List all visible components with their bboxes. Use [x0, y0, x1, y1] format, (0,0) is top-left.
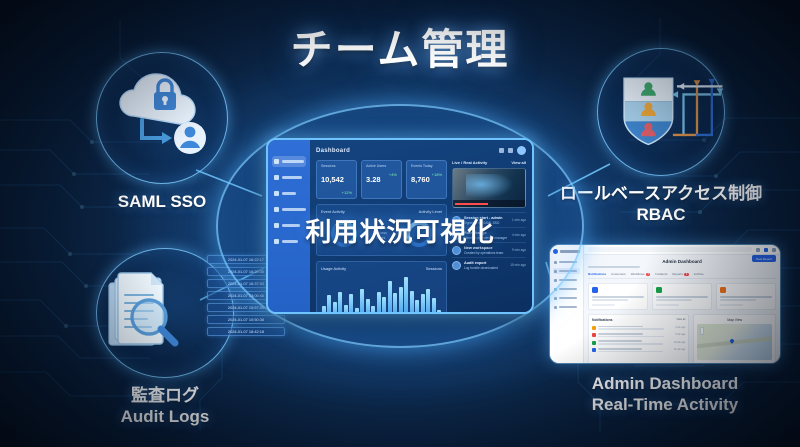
- donut-legend: Logins Access Errors: [376, 226, 387, 241]
- sso-ring: [96, 52, 228, 184]
- notification-time: 9 min ago: [675, 334, 685, 336]
- notification-time: 2 min ago: [675, 327, 685, 329]
- bell-icon[interactable]: [508, 148, 513, 153]
- usage-bar: [432, 298, 436, 314]
- device-live-feed: Live / Real Activity View all Session st…: [452, 160, 526, 314]
- usage-bar: [360, 289, 364, 314]
- stat-label: Sessions: [321, 164, 352, 169]
- feed-item-desc: Member promoted to manager: [464, 236, 509, 240]
- device-nav-users[interactable]: [272, 188, 306, 199]
- device-top-icons[interactable]: [499, 146, 526, 155]
- cloud-lock-icon: [110, 72, 214, 164]
- stat-change: +12%: [342, 190, 352, 195]
- status-icon: [592, 341, 596, 345]
- gear-icon: [274, 239, 279, 244]
- admin-notifications-panel: Notifications View all 2 min ago 9 min a…: [588, 314, 689, 363]
- notification-icon[interactable]: [764, 248, 768, 252]
- stat-value: 8,760: [411, 175, 430, 184]
- key-icon: [274, 207, 279, 212]
- video-highlight: [466, 174, 516, 201]
- donut-legend-item: Errors: [376, 236, 387, 241]
- device-donut-panel: Event Activity Activity Level Logins Acc…: [316, 204, 447, 256]
- device-nav-settings[interactable]: [272, 236, 306, 247]
- usage-bar: [355, 308, 359, 314]
- usage-bar: [410, 291, 414, 314]
- admin-notification-row[interactable]: 9 min ago: [592, 331, 685, 338]
- feed-item-name: Audit export: [464, 261, 507, 265]
- usage-bar: [322, 306, 326, 314]
- dashboard-icon: [274, 159, 279, 164]
- device-nav-audit-trail[interactable]: [272, 220, 306, 231]
- bar-panel-header: Usage Activity Sessions: [321, 266, 442, 271]
- device-topbar: Dashboard: [316, 146, 526, 155]
- feed-item[interactable]: Session start - adminSigned in via SAML …: [452, 212, 526, 227]
- document-magnifier-icon: [103, 265, 199, 361]
- stat-change: +4%: [389, 172, 397, 177]
- tab-reports[interactable]: Reports 8: [672, 272, 688, 276]
- usage-bar-chart: [321, 274, 442, 314]
- usage-bar: [426, 289, 430, 314]
- tab-workflows[interactable]: Workflows 3: [631, 272, 651, 276]
- map-pin-icon: [729, 338, 735, 344]
- usage-bar: [404, 277, 408, 314]
- list-icon: [274, 223, 279, 228]
- device-app-title: Dashboard: [316, 148, 350, 154]
- feed-item-name: Session start - admin: [464, 216, 509, 220]
- infographic-stage: チーム管理 SAML SSO: [0, 0, 800, 447]
- donut-panel-meta: Activity Level: [419, 209, 442, 214]
- usage-bar: [399, 287, 403, 314]
- feed-header: Live / Real Activity View all: [452, 160, 526, 165]
- admin-notifications-header: Notifications View all: [592, 318, 685, 322]
- admin-nav-notifications[interactable]: [553, 295, 580, 301]
- stat-value: 3.28: [366, 175, 381, 184]
- admin-caption-line1: Admin Dashboard: [592, 374, 738, 393]
- admin-tabs[interactable]: Notifications Customers Workflows 3 Inci…: [588, 272, 776, 279]
- admin-dashboard-frame: Admin Dashboard New Report Notifications…: [549, 244, 781, 364]
- status-icon: [592, 348, 596, 352]
- rbac-ring: [597, 48, 725, 176]
- center-device[interactable]: Dashboard Sessions 10,542 +12%: [266, 138, 534, 314]
- audit-ring: 2024-01-07 16:22:17 2024-01-07 16:20:35 …: [96, 248, 234, 378]
- donut-panel-title: Event Activity: [321, 209, 345, 214]
- admin-dashboard-mock: Admin Dashboard New Report Notifications…: [550, 245, 780, 363]
- device-bar-panel: Usage Activity Sessions: [316, 261, 447, 314]
- center-dashboard-node: Dashboard Sessions 10,542 +12%: [258, 128, 542, 324]
- device-nav-access-manager[interactable]: [272, 204, 306, 215]
- audit-caption-line2: Audit Logs: [60, 407, 270, 428]
- admin-heading: Admin Dashboard: [588, 259, 776, 264]
- stat-change: +18%: [432, 172, 442, 177]
- feed-item[interactable]: New workspaceCreated by operations team …: [452, 242, 526, 257]
- tab-notifications[interactable]: Notifications: [588, 272, 606, 276]
- bar-panel-title: Usage Activity: [321, 266, 346, 271]
- usage-bar: [437, 310, 441, 314]
- users-icon: [274, 191, 279, 196]
- stat-card[interactable]: Events Today 8,760 +18%: [406, 160, 447, 199]
- rbac-caption: ロールベースアクセス制御 RBAC: [556, 184, 766, 225]
- admin-notification-row[interactable]: 2 min ago: [592, 324, 685, 331]
- feed-item-desc: Created by operations team: [464, 251, 509, 255]
- admin-map-title: Map View: [697, 318, 772, 322]
- admin-primary-button[interactable]: New Report: [752, 255, 776, 262]
- device-sidebar[interactable]: [268, 140, 310, 312]
- usage-bar: [382, 297, 386, 314]
- avatar: [452, 246, 461, 255]
- device-nav-dashboard[interactable]: [272, 156, 306, 167]
- usage-bar: [388, 281, 392, 314]
- notification-time: 24 min ago: [674, 342, 685, 344]
- feed-item-time: 4 min ago: [512, 233, 526, 237]
- admin-notifications-title: Notifications: [592, 318, 613, 322]
- admin-notification-row[interactable]: 24 min ago: [592, 339, 685, 346]
- feed-item-time: 1 min ago: [512, 218, 526, 222]
- card-icon: [720, 287, 726, 293]
- status-icon: [592, 333, 596, 337]
- device-main: Dashboard Sessions 10,542 +12%: [310, 140, 532, 312]
- arrow-light-blue: [684, 94, 720, 135]
- stat-value: 10,542: [321, 175, 344, 184]
- donut-charts: Logins Access Errors: [321, 217, 442, 251]
- feed-item-name: Role change: [464, 231, 509, 235]
- avatar: [452, 231, 461, 240]
- map-canvas[interactable]: [697, 324, 772, 360]
- feed-item-name: New workspace: [464, 246, 509, 250]
- live-video-thumbnail[interactable]: [452, 168, 526, 208]
- usage-bar: [333, 302, 337, 314]
- stat-card[interactable]: Active Users 3.28 +4%: [361, 160, 402, 199]
- admin-subheading: [588, 266, 640, 268]
- usage-bar: [371, 306, 375, 314]
- feed-item-desc: Log bundle downloaded: [464, 266, 507, 270]
- usage-bar: [349, 294, 353, 314]
- admin-card[interactable]: [652, 283, 712, 310]
- admin-main: Admin Dashboard New Report Notifications…: [584, 245, 780, 363]
- feed-title: Live / Real Activity: [452, 160, 487, 165]
- notification-time: 41 min ago: [674, 349, 685, 351]
- shield-roles-icon: [616, 54, 724, 170]
- audit-caption: 監査ログ Audit Logs: [60, 386, 270, 427]
- audit-caption-line1: 監査ログ: [131, 386, 199, 405]
- stat-card[interactable]: Sessions 10,542 +12%: [316, 160, 357, 199]
- usage-bar: [344, 305, 348, 314]
- tab-reports-label: Reports: [672, 272, 683, 276]
- tab-workflows-badge: 3: [646, 273, 650, 276]
- donut-chart-right: [406, 221, 432, 247]
- feed-item-time: 9 min ago: [512, 248, 526, 252]
- admin-caption: Admin Dashboard Real-Time Activity: [540, 374, 790, 415]
- admin-notification-row[interactable]: 41 min ago: [592, 346, 685, 353]
- bar-panel-legend: Sessions: [426, 266, 442, 271]
- tab-archive[interactable]: Archive: [694, 272, 704, 276]
- usage-bar: [393, 293, 397, 314]
- usage-bar: [327, 295, 331, 314]
- usage-bar: [377, 292, 381, 314]
- search-icon[interactable]: [499, 148, 504, 153]
- admin-cards: [588, 283, 776, 310]
- tab-customers[interactable]: Customers: [611, 272, 626, 276]
- avatar[interactable]: [772, 248, 776, 252]
- admin-body: Admin Dashboard New Report Notifications…: [584, 255, 780, 363]
- admin-topbar: [584, 245, 780, 255]
- device-stat-row: Sessions 10,542 +12% Active Users 3.28 +…: [316, 160, 447, 199]
- chart-icon: [274, 175, 279, 180]
- video-progress-bar[interactable]: [453, 200, 525, 207]
- usage-bar: [338, 292, 342, 314]
- admin-nav-settings[interactable]: [553, 304, 580, 310]
- tab-workflows-label: Workflows: [631, 272, 645, 276]
- usage-bar: [421, 294, 425, 314]
- feed-meta[interactable]: View all: [511, 160, 526, 165]
- stat-label: Events Today: [411, 164, 442, 169]
- feed-item[interactable]: Audit exportLog bundle downloaded 15 min…: [452, 257, 526, 272]
- status-icon: [592, 326, 596, 330]
- help-icon[interactable]: [756, 248, 760, 252]
- card-icon: [592, 287, 598, 293]
- node-admin-dashboard[interactable]: Admin Dashboard New Report Notifications…: [540, 244, 790, 415]
- bell-icon: [554, 297, 557, 300]
- tab-incidents[interactable]: Incidents: [655, 272, 667, 276]
- admin-card[interactable]: [588, 283, 648, 310]
- rbac-caption-line1: ロールベースアクセス制御: [560, 184, 762, 203]
- admin-card[interactable]: [716, 283, 776, 310]
- rbac-caption-line2: RBAC: [556, 205, 766, 226]
- feed-item[interactable]: Role changeMember promoted to manager 4 …: [452, 227, 526, 242]
- audit-timestamp: 2024-01-07 18:42:18: [207, 327, 285, 336]
- stat-label: Active Users: [366, 164, 397, 169]
- gear-icon: [554, 306, 557, 309]
- card-icon: [656, 287, 662, 293]
- arrow-dark-blue: [697, 85, 712, 135]
- admin-caption-line2: Real-Time Activity: [540, 395, 790, 416]
- feed-item-desc: Signed in via SAML SSO: [464, 221, 509, 225]
- avatar: [452, 216, 461, 225]
- donut-chart-left: [331, 221, 357, 247]
- device-nav-analytics[interactable]: [272, 172, 306, 183]
- donut-panel-header: Event Activity Activity Level: [321, 209, 442, 214]
- map-zoom-control[interactable]: [700, 327, 704, 335]
- usage-bar: [366, 299, 370, 314]
- admin-notifications-meta[interactable]: View all: [676, 318, 685, 321]
- admin-search-input[interactable]: [588, 247, 752, 252]
- admin-lower: Notifications View all 2 min ago 9 min a…: [588, 314, 776, 363]
- device-body: Sessions 10,542 +12% Active Users 3.28 +…: [316, 160, 526, 314]
- avatar: [452, 261, 461, 270]
- admin-map-panel: Map View: [693, 314, 776, 363]
- feed-item-time: 15 min ago: [510, 263, 526, 267]
- avatar[interactable]: [517, 146, 526, 155]
- node-rbac[interactable]: ロールベースアクセス制御 RBAC: [556, 48, 766, 225]
- tab-reports-badge: 8: [684, 273, 688, 276]
- device-left-column: Sessions 10,542 +12% Active Users 3.28 +…: [316, 160, 447, 314]
- usage-bar: [415, 300, 419, 314]
